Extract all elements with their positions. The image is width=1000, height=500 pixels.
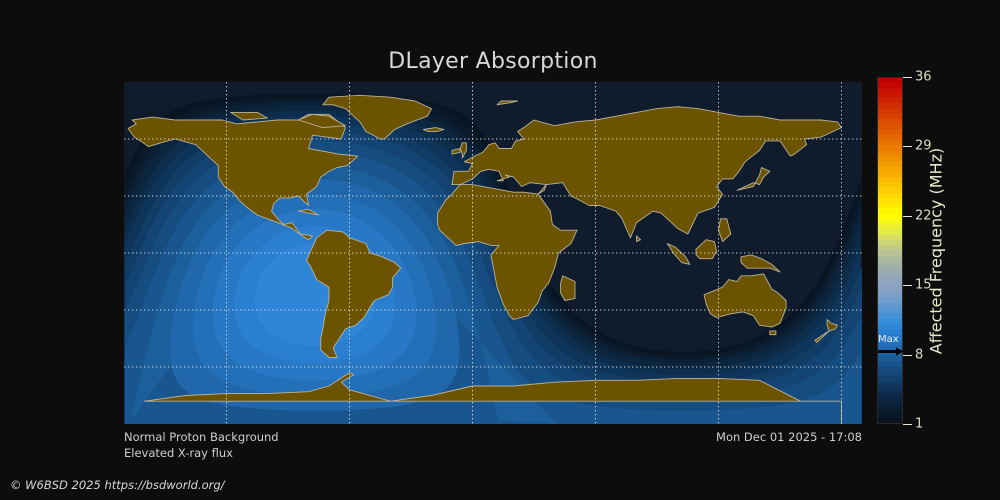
colorbar-tick-label: 8: [915, 348, 923, 363]
colorbar-tick-mark: [903, 216, 912, 217]
max-marker-label: Max: [878, 335, 899, 345]
colorbar-tick-mark: [903, 285, 912, 286]
colorbar-axis-label: Affected Frequency (MHz): [926, 77, 946, 424]
world-map-svg: [124, 82, 862, 424]
page-title: DLayer Absorption: [124, 49, 862, 74]
colorbar-band: [877, 418, 903, 423]
colorbar-tick-mark: [903, 424, 912, 425]
colorbar-axis-label-text: Affected Frequency (MHz): [927, 147, 946, 353]
dlayer-absorption-plot: DLayer Absorption 3629221581 Affected Fr…: [0, 0, 1000, 500]
colorbar-tick-label: 1: [915, 417, 923, 432]
world-map-panel[interactable]: [124, 82, 862, 424]
timestamp: Mon Dec 01 2025 - 17:08: [0, 430, 862, 444]
max-marker: Max: [877, 335, 907, 357]
colorbar[interactable]: [877, 77, 903, 424]
copyright-notice: © W6BSD 2025 https://bsdworld.org/: [10, 478, 225, 492]
colorbar-tick-mark: [903, 77, 912, 78]
max-arrow-icon: [878, 347, 904, 356]
colorbar-tick-mark: [903, 146, 912, 147]
note-xray-flux: Elevated X-ray flux: [124, 446, 233, 460]
